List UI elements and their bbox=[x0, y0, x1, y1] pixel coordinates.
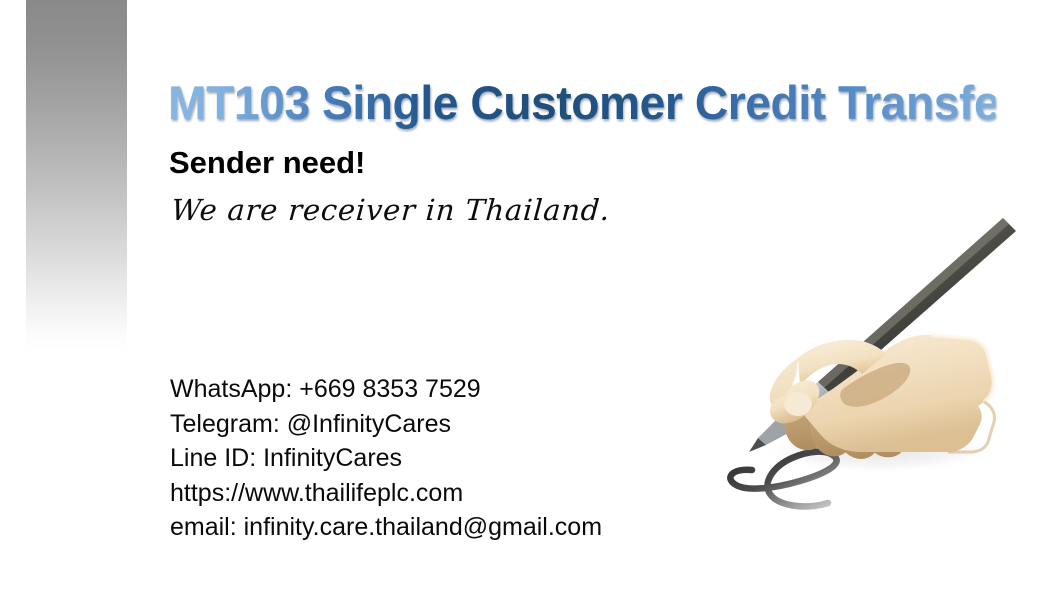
contact-line-website[interactable]: https://www.thailifeplc.com bbox=[170, 476, 730, 511]
contact-line-whatsapp: WhatsApp: +669 8353 7529 bbox=[170, 372, 730, 407]
contact-line-lineid: Line ID: InfinityCares bbox=[170, 441, 730, 476]
script-statement: We are receiver in Thailand. bbox=[170, 190, 612, 230]
hand-writing-with-pen-icon bbox=[648, 198, 1052, 534]
contact-line-email[interactable]: email: infinity.care.thailand@gmail.com bbox=[170, 510, 730, 545]
contact-block: WhatsApp: +669 8353 7529 Telegram: @Infi… bbox=[170, 372, 730, 545]
left-gradient-bar bbox=[26, 0, 127, 352]
slide-canvas: MT103 Single Customer Credit Transfer Se… bbox=[0, 0, 1063, 600]
page-title: MT103 Single Customer Credit Transfer bbox=[168, 75, 995, 131]
subtitle-heading: Sender need! bbox=[169, 144, 365, 182]
thumb-knuckle bbox=[784, 392, 812, 416]
contact-line-telegram: Telegram: @InfinityCares bbox=[170, 407, 730, 442]
